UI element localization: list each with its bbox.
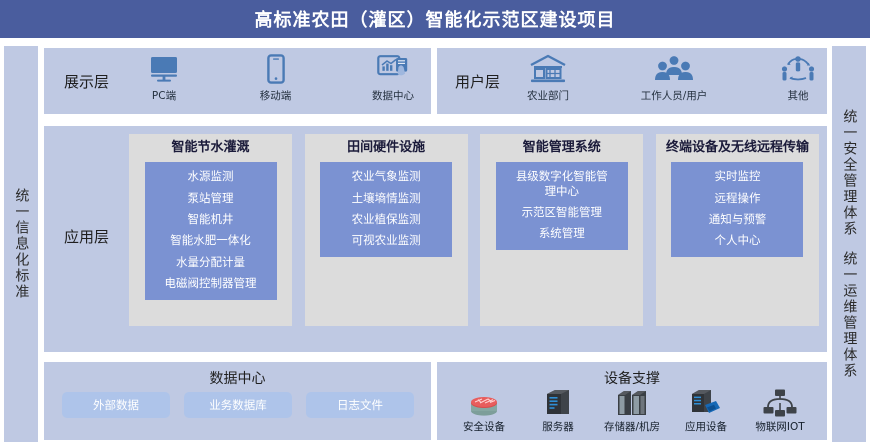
server-tower-icon (543, 384, 573, 418)
display-layer-label: 展示层 (64, 71, 109, 92)
app-card-title: 田间硬件设施 (341, 140, 431, 156)
app-card-items: 农业气象监测 土壤墒情监测 农业植保监测 可视农业监测 (320, 162, 452, 257)
app-card-items: 实时监控 远程操作 通知与预警 个人中心 (671, 162, 803, 257)
people-group-icon (655, 52, 693, 86)
app-card-title: 终端设备及无线远程传输 (660, 140, 815, 156)
display-layer-band: 展示层 PC端 移动端 (44, 48, 431, 114)
government-building-icon (528, 52, 568, 86)
app-item[interactable]: 泵站管理 (188, 191, 234, 205)
display-item-datacenter[interactable]: 数据中心 (372, 52, 414, 103)
data-chip-business-db[interactable]: 业务数据库 (184, 392, 292, 418)
app-item[interactable]: 水量分配计量 (176, 255, 245, 269)
app-item[interactable]: 农业气象监测 (352, 169, 421, 183)
app-item[interactable]: 可视农业监测 (352, 233, 421, 247)
mobile-icon (267, 52, 285, 86)
user-item-agriculture-dept[interactable]: 农业部门 (527, 52, 569, 103)
app-card-terminal-transmission: 终端设备及无线远程传输 实时监控 远程操作 通知与预警 个人中心 (656, 134, 819, 326)
display-item-mobile-label: 移动端 (260, 88, 292, 103)
collaboration-icon (779, 52, 817, 86)
display-item-pc[interactable]: PC端 (149, 52, 179, 103)
app-card-title: 智能管理系统 (517, 140, 607, 156)
device-item-storage[interactable]: 存储器/机房 (597, 384, 667, 434)
user-item-staff-label: 工作人员/用户 (641, 88, 708, 103)
app-card-smart-irrigation: 智能节水灌溉 水源监测 泵站管理 智能机井 智能水肥一体化 水量分配计量 电磁阀… (129, 134, 292, 326)
app-item[interactable]: 县级数字化智能管 理中心 (516, 169, 608, 198)
device-item-security-label: 安全设备 (463, 419, 505, 434)
user-item-other-label: 其他 (787, 88, 808, 103)
data-center-title: 数据中心 (44, 368, 431, 388)
data-chip-external[interactable]: 外部数据 (62, 392, 170, 418)
app-item[interactable]: 土壤墒情监测 (352, 191, 421, 205)
app-item[interactable]: 电磁阀控制器管理 (165, 276, 257, 290)
data-chip-log-files[interactable]: 日志文件 (306, 392, 414, 418)
tablet-chart-icon (377, 52, 409, 86)
rail-label-ops-system: 统一运维管理体系 (842, 251, 857, 379)
user-layer-label: 用户层 (455, 71, 500, 92)
storage-rack-icon (615, 384, 649, 418)
display-item-datacenter-label: 数据中心 (372, 88, 414, 103)
user-item-staff[interactable]: 工作人员/用户 (641, 52, 708, 103)
app-item[interactable]: 远程操作 (714, 191, 760, 205)
device-item-app-device[interactable]: 应用设备 (671, 384, 741, 434)
device-support-band: 设备支撑 安全设备 (437, 362, 827, 440)
device-item-iot[interactable]: 物联网IOT (745, 384, 815, 434)
app-item[interactable]: 农业植保监测 (352, 212, 421, 226)
right-rail-management: 统一安全管理体系 统一运维管理体系 (832, 46, 866, 442)
page-title: 高标准农田（灌区）智能化示范区建设项目 (255, 6, 616, 32)
app-item[interactable]: 智能机井 (188, 212, 234, 226)
app-item[interactable]: 水源监测 (188, 169, 234, 183)
device-item-storage-label: 存储器/机房 (604, 419, 660, 434)
display-item-pc-label: PC端 (152, 88, 176, 103)
app-card-items: 水源监测 泵站管理 智能机井 智能水肥一体化 水量分配计量 电磁阀控制器管理 (145, 162, 277, 299)
app-item[interactable]: 智能水肥一体化 (170, 233, 251, 247)
device-item-server[interactable]: 服务器 (523, 384, 593, 434)
app-device-icon (689, 384, 723, 418)
app-card-items: 县级数字化智能管 理中心 示范区智能管理 系统管理 (496, 162, 628, 250)
user-item-other[interactable]: 其他 (779, 52, 817, 103)
app-item[interactable]: 示范区智能管理 (522, 205, 603, 219)
left-rail-standard: 统一信息化标准 (4, 46, 38, 442)
device-item-security[interactable]: 安全设备 (449, 384, 519, 434)
iot-network-icon (763, 384, 797, 418)
device-item-server-label: 服务器 (542, 419, 574, 434)
device-item-iot-label: 物联网IOT (755, 419, 804, 434)
app-item[interactable]: 个人中心 (714, 233, 760, 247)
monitor-icon (149, 52, 179, 86)
router-security-icon (466, 384, 502, 418)
user-layer-band: 用户层 农业部门 (437, 48, 827, 114)
app-item[interactable]: 通知与预警 (709, 212, 767, 226)
application-layer-band: 应用层 智能节水灌溉 水源监测 泵站管理 智能机井 智能水肥一体化 水量分配计量… (44, 126, 827, 352)
device-item-app-device-label: 应用设备 (685, 419, 727, 434)
app-card-title: 智能节水灌溉 (165, 140, 255, 156)
page-title-bar: 高标准农田（灌区）智能化示范区建设项目 (0, 0, 870, 38)
app-card-field-hardware: 田间硬件设施 农业气象监测 土壤墒情监测 农业植保监测 可视农业监测 (305, 134, 468, 326)
display-item-mobile[interactable]: 移动端 (260, 52, 292, 103)
app-item[interactable]: 实时监控 (714, 169, 760, 183)
app-card-management-system: 智能管理系统 县级数字化智能管 理中心 示范区智能管理 系统管理 (480, 134, 643, 326)
rail-label-info-standard: 统一信息化标准 (14, 188, 29, 300)
application-layer-label: 应用层 (64, 226, 109, 247)
data-center-band: 数据中心 外部数据 业务数据库 日志文件 (44, 362, 431, 440)
user-item-agriculture-dept-label: 农业部门 (527, 88, 569, 103)
rail-label-security-system: 统一安全管理体系 (842, 109, 857, 237)
app-item[interactable]: 系统管理 (539, 226, 585, 240)
